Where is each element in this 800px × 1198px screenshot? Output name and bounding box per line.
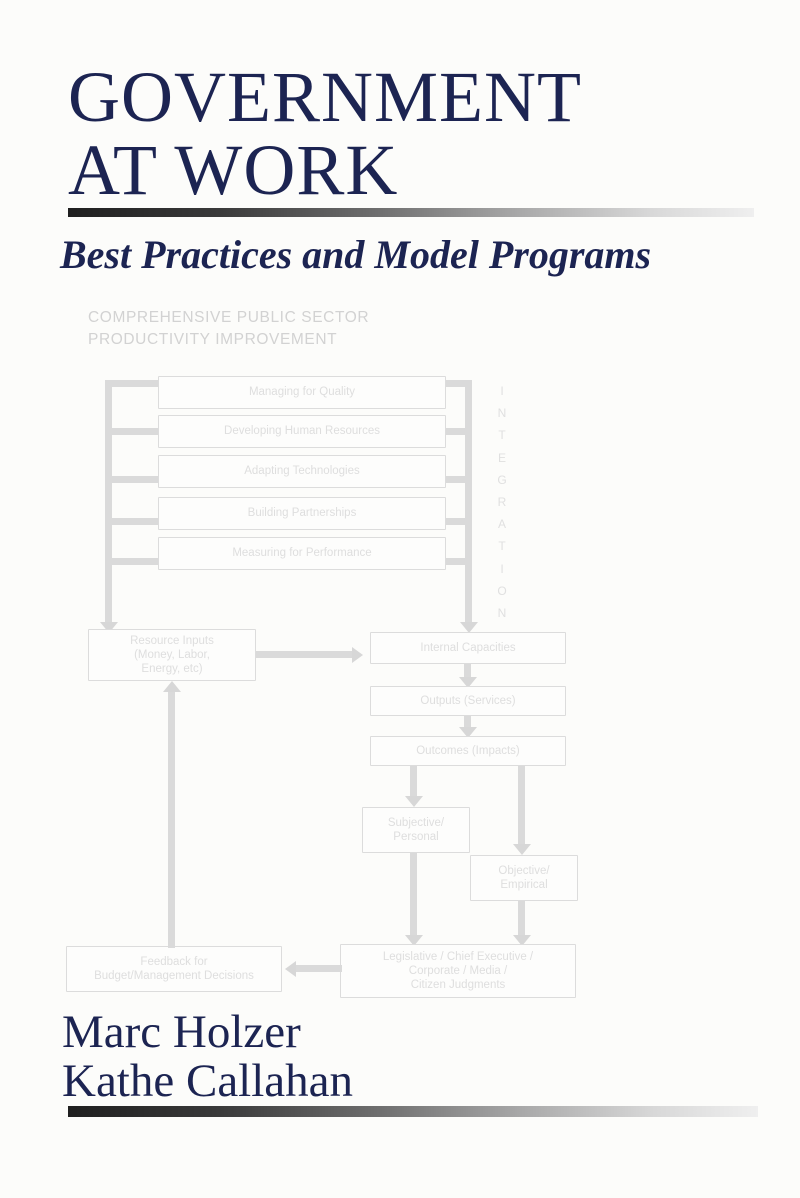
- book-cover: GOVERNMENT AT WORK Best Practices and Mo…: [0, 0, 800, 1198]
- integration-letter: G: [492, 469, 512, 491]
- node-developing-human-resources: Developing Human Resources: [158, 415, 446, 448]
- left-spine-arm-4: [105, 518, 161, 525]
- node-judgments: Legislative / Chief Executive / Corporat…: [340, 944, 576, 998]
- title-block: GOVERNMENT AT WORK: [68, 62, 768, 205]
- node-subjective-personal: Subjective/ Personal: [362, 807, 470, 853]
- integration-label: INTEGRATION: [492, 380, 512, 624]
- productivity-diagram: COMPREHENSIVE PUBLIC SECTOR PRODUCTIVITY…: [0, 296, 800, 1006]
- integration-letter: N: [492, 402, 512, 424]
- arrow-outcomes-to-objective: [513, 844, 531, 855]
- title-line-1: GOVERNMENT: [68, 62, 768, 133]
- arrow-judgments-to-feedback: [285, 961, 296, 977]
- integration-letter: A: [492, 513, 512, 535]
- node-managing-for-quality: Managing for Quality: [158, 376, 446, 409]
- title-line-2: AT WORK: [68, 135, 768, 206]
- connector-objective-to-judgments: [518, 901, 525, 939]
- left-spine-arm-1: [105, 380, 161, 387]
- node-adapting-technologies: Adapting Technologies: [158, 455, 446, 488]
- node-building-partnerships: Building Partnerships: [158, 497, 446, 530]
- left-spine-arm-5: [105, 558, 161, 565]
- subtitle: Best Practices and Model Programs: [60, 231, 651, 278]
- node-objective-empirical: Objective/ Empirical: [470, 855, 578, 901]
- integration-letter: I: [492, 380, 512, 402]
- node-measuring-for-performance: Measuring for Performance: [158, 537, 446, 570]
- integration-letter: I: [492, 558, 512, 580]
- arrow-outcomes-to-subjective: [405, 796, 423, 807]
- node-internal-capacities: Internal Capacities: [370, 632, 566, 664]
- node-outputs: Outputs (Services): [370, 686, 566, 716]
- left-spine-arm-3: [105, 476, 161, 483]
- node-outcomes: Outcomes (Impacts): [370, 736, 566, 766]
- right-spine-vertical: [465, 380, 472, 628]
- node-resource-inputs: Resource Inputs (Money, Labor, Energy, e…: [88, 629, 256, 681]
- connector-outcomes-to-subjective: [410, 766, 417, 800]
- node-feedback: Feedback for Budget/Management Decisions: [66, 946, 282, 992]
- integration-letter: N: [492, 602, 512, 624]
- integration-letter: T: [492, 424, 512, 446]
- arrow-to-internal-capacities: [352, 647, 363, 663]
- bottom-divider-bar: [68, 1106, 758, 1117]
- authors-block: Marc Holzer Kathe Callahan: [62, 1008, 353, 1106]
- connector-outcomes-to-objective: [518, 766, 525, 848]
- author-name-1: Marc Holzer: [62, 1008, 353, 1057]
- connector-judgments-to-feedback: [296, 965, 342, 972]
- author-name-2: Kathe Callahan: [62, 1057, 353, 1106]
- left-spine-arm-2: [105, 428, 161, 435]
- connector-subjective-to-judgments: [410, 853, 417, 939]
- integration-letter: E: [492, 447, 512, 469]
- diagram-heading: COMPREHENSIVE PUBLIC SECTOR PRODUCTIVITY…: [88, 307, 369, 351]
- arrow-feedback-to-resource-inputs: [163, 681, 181, 692]
- connector-feedback-to-resource-inputs: [168, 692, 175, 948]
- integration-letter: R: [492, 491, 512, 513]
- title-divider-bar: [68, 208, 754, 217]
- integration-letter: O: [492, 580, 512, 602]
- integration-letter: T: [492, 535, 512, 557]
- connector-resource-inputs-to-internal-capacities: [256, 651, 354, 658]
